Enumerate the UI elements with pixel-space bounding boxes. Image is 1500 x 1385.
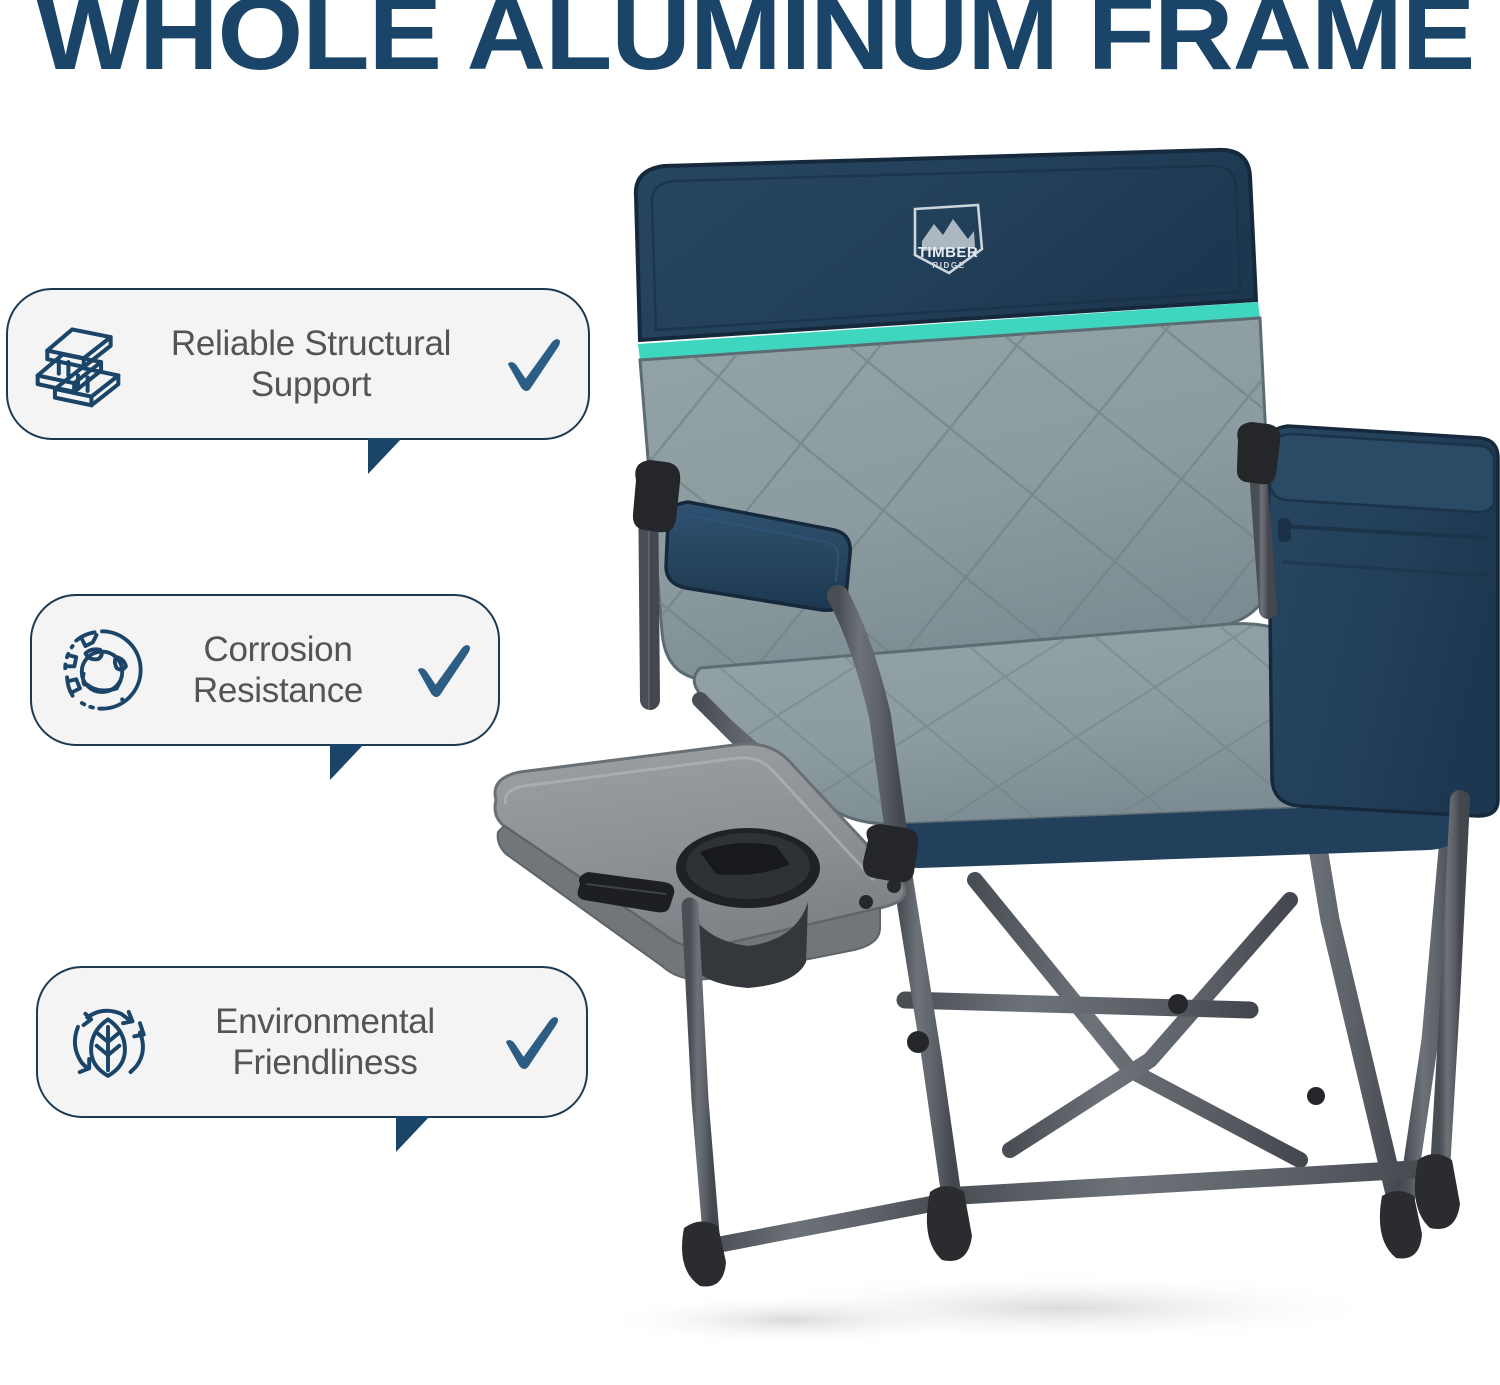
cup-holder: [676, 828, 820, 908]
chair-feet: [682, 1154, 1460, 1287]
pocket-zipper: [1282, 526, 1488, 538]
feature-label-line2: Support: [251, 365, 372, 404]
backrest-navy-panel: [636, 150, 1256, 340]
feature-label-line1: Corrosion: [203, 630, 352, 669]
corroded-gear-icon: [54, 622, 150, 718]
infographic-canvas: WHOLE ALUMINUM FRAME: [0, 0, 1500, 1385]
teal-accent-stripe: [638, 302, 1260, 360]
stacked-planks-icon: [30, 316, 126, 412]
chair-frame-front: [648, 470, 1460, 1200]
seat-cushion: [694, 624, 1476, 825]
seat-edge-binding: [882, 802, 1468, 868]
brand-name-line2: RIDGE: [932, 261, 965, 270]
chair-seat: [694, 624, 1476, 868]
backrest-quilted-panel: [640, 318, 1272, 680]
checkmark-icon: [406, 633, 480, 707]
frame-hardware: [633, 422, 1325, 1105]
armrest-top-roll: [1269, 434, 1494, 512]
feature-callout-environmental-friendliness: Environmental Friendliness: [36, 966, 588, 1118]
leaf-recycle-icon: [60, 994, 156, 1090]
checkmark-icon: [496, 327, 570, 401]
feature-label-line1: Environmental: [215, 1002, 435, 1041]
side-organizer-pocket: [1267, 426, 1498, 816]
callout-tail: [368, 438, 402, 474]
feature-label: Reliable Structural Support: [140, 323, 482, 406]
brand-logo-badge: TIMBER RIDGE: [915, 205, 982, 273]
feature-callout-structural-support: Reliable Structural Support: [6, 288, 590, 440]
page-title: WHOLE ALUMINUM FRAME: [36, 0, 1500, 86]
chair-backrest: TIMBER RIDGE: [636, 150, 1272, 680]
feature-label: Environmental Friendliness: [170, 1001, 480, 1084]
checkmark-icon: [494, 1005, 568, 1079]
callout-tail: [330, 744, 364, 780]
feature-label-line2: Resistance: [193, 671, 363, 710]
device-slot: [578, 872, 675, 912]
feature-callout-corrosion-resistance: Corrosion Resistance: [30, 594, 500, 746]
callout-tail: [396, 1116, 430, 1152]
arm-support-tube: [838, 596, 900, 860]
brand-name-line1: TIMBER: [918, 244, 979, 261]
feature-label: Corrosion Resistance: [164, 629, 392, 712]
side-table: [495, 744, 905, 988]
feature-label-line2: Friendliness: [232, 1043, 417, 1082]
floor-shadow-left: [600, 1294, 980, 1346]
feature-label-line1: Reliable Structural: [171, 324, 451, 363]
left-armrest: [666, 502, 850, 610]
chair-frame-rear: [905, 470, 1455, 1215]
zipper-pull: [1278, 518, 1291, 542]
cup-holder-cup: [686, 902, 808, 988]
table-support-leg: [690, 906, 952, 1246]
floor-shadow: [730, 1272, 1390, 1344]
